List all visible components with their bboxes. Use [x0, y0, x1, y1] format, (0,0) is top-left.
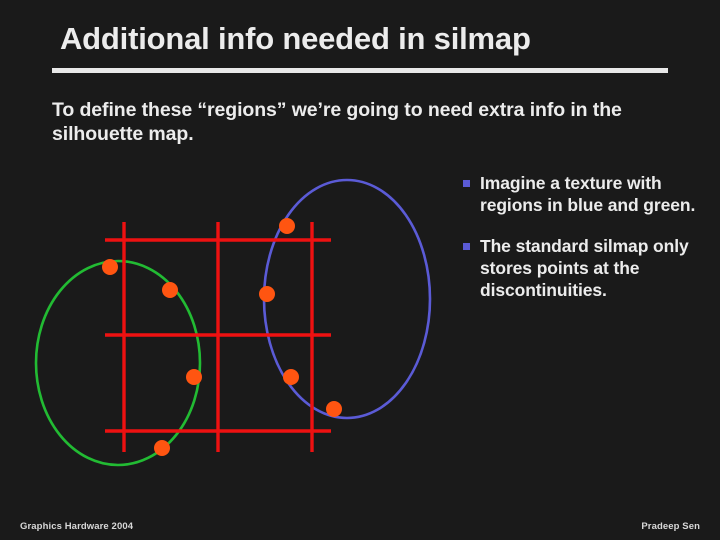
point-green-bottom	[154, 440, 170, 456]
footer-conference-label: Graphics Hardware 2004	[20, 521, 133, 532]
point-green-right	[186, 369, 202, 385]
point-blue-left	[259, 286, 275, 302]
point-green-upper-right	[162, 282, 178, 298]
list-item-label: The standard silmap only stores points a…	[480, 236, 689, 300]
grid-vertical-lines	[124, 222, 312, 452]
point-blue-lower-left	[283, 369, 299, 385]
silhouette-points	[102, 218, 342, 456]
point-blue-top	[279, 218, 295, 234]
point-green-top	[102, 259, 118, 275]
slide-canvas: Additional info needed in silmap To defi…	[0, 0, 720, 540]
bullet-list: Imagine a texture with regions in blue a…	[463, 172, 708, 320]
list-item: The standard silmap only stores points a…	[463, 235, 708, 301]
point-blue-bottom	[326, 401, 342, 417]
bullet-square-icon	[463, 243, 470, 250]
list-item: Imagine a texture with regions in blue a…	[463, 172, 708, 216]
list-item-label: Imagine a texture with regions in blue a…	[480, 173, 695, 215]
bullet-square-icon	[463, 180, 470, 187]
footer-author-label: Pradeep Sen	[641, 521, 700, 532]
